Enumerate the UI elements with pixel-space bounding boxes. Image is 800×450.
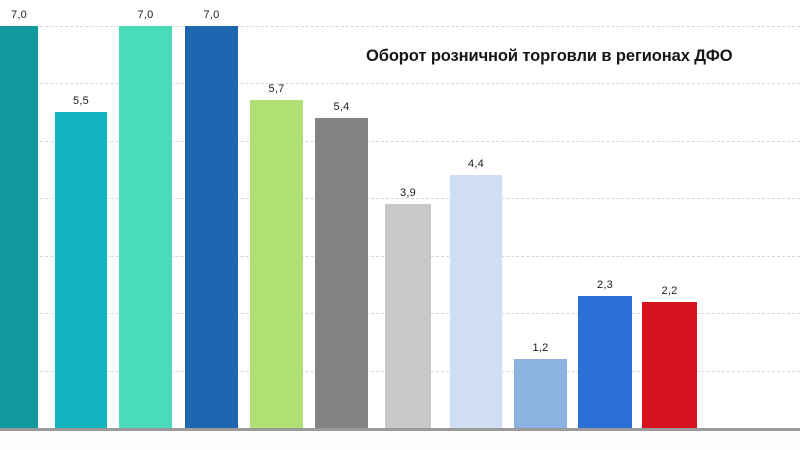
- below-axis-band: [0, 431, 800, 450]
- bar: [642, 302, 697, 429]
- bar-value-label: 1,2: [514, 342, 567, 354]
- bar-value-label: 5,5: [55, 95, 107, 107]
- bar: [250, 100, 303, 428]
- bar: [450, 175, 502, 428]
- bar-value-label: 2,2: [642, 285, 697, 297]
- chart-title: Оборот розничной торговли в регионах ДФО: [366, 47, 732, 66]
- bar: [514, 359, 567, 428]
- bar-value-label: 4,4: [450, 158, 502, 170]
- bar-value-label: 7,0: [119, 9, 172, 21]
- bar-value-label: 2,3: [578, 279, 632, 291]
- bar-value-label: 5,4: [315, 101, 368, 113]
- bar: [315, 118, 368, 429]
- bar-value-label: 3,9: [385, 187, 431, 199]
- chart-screenshot: 7,05,57,07,05,75,43,94,41,22,32,2 Оборот…: [0, 0, 800, 450]
- bar: [0, 26, 38, 429]
- bar: [119, 26, 172, 429]
- bar: [185, 26, 238, 429]
- bar: [55, 112, 107, 428]
- bar-value-label: 7,0: [0, 9, 38, 21]
- bar-value-label: 7,0: [185, 9, 238, 21]
- bar: [385, 204, 431, 428]
- bar-value-label: 5,7: [250, 83, 303, 95]
- bar: [578, 296, 632, 428]
